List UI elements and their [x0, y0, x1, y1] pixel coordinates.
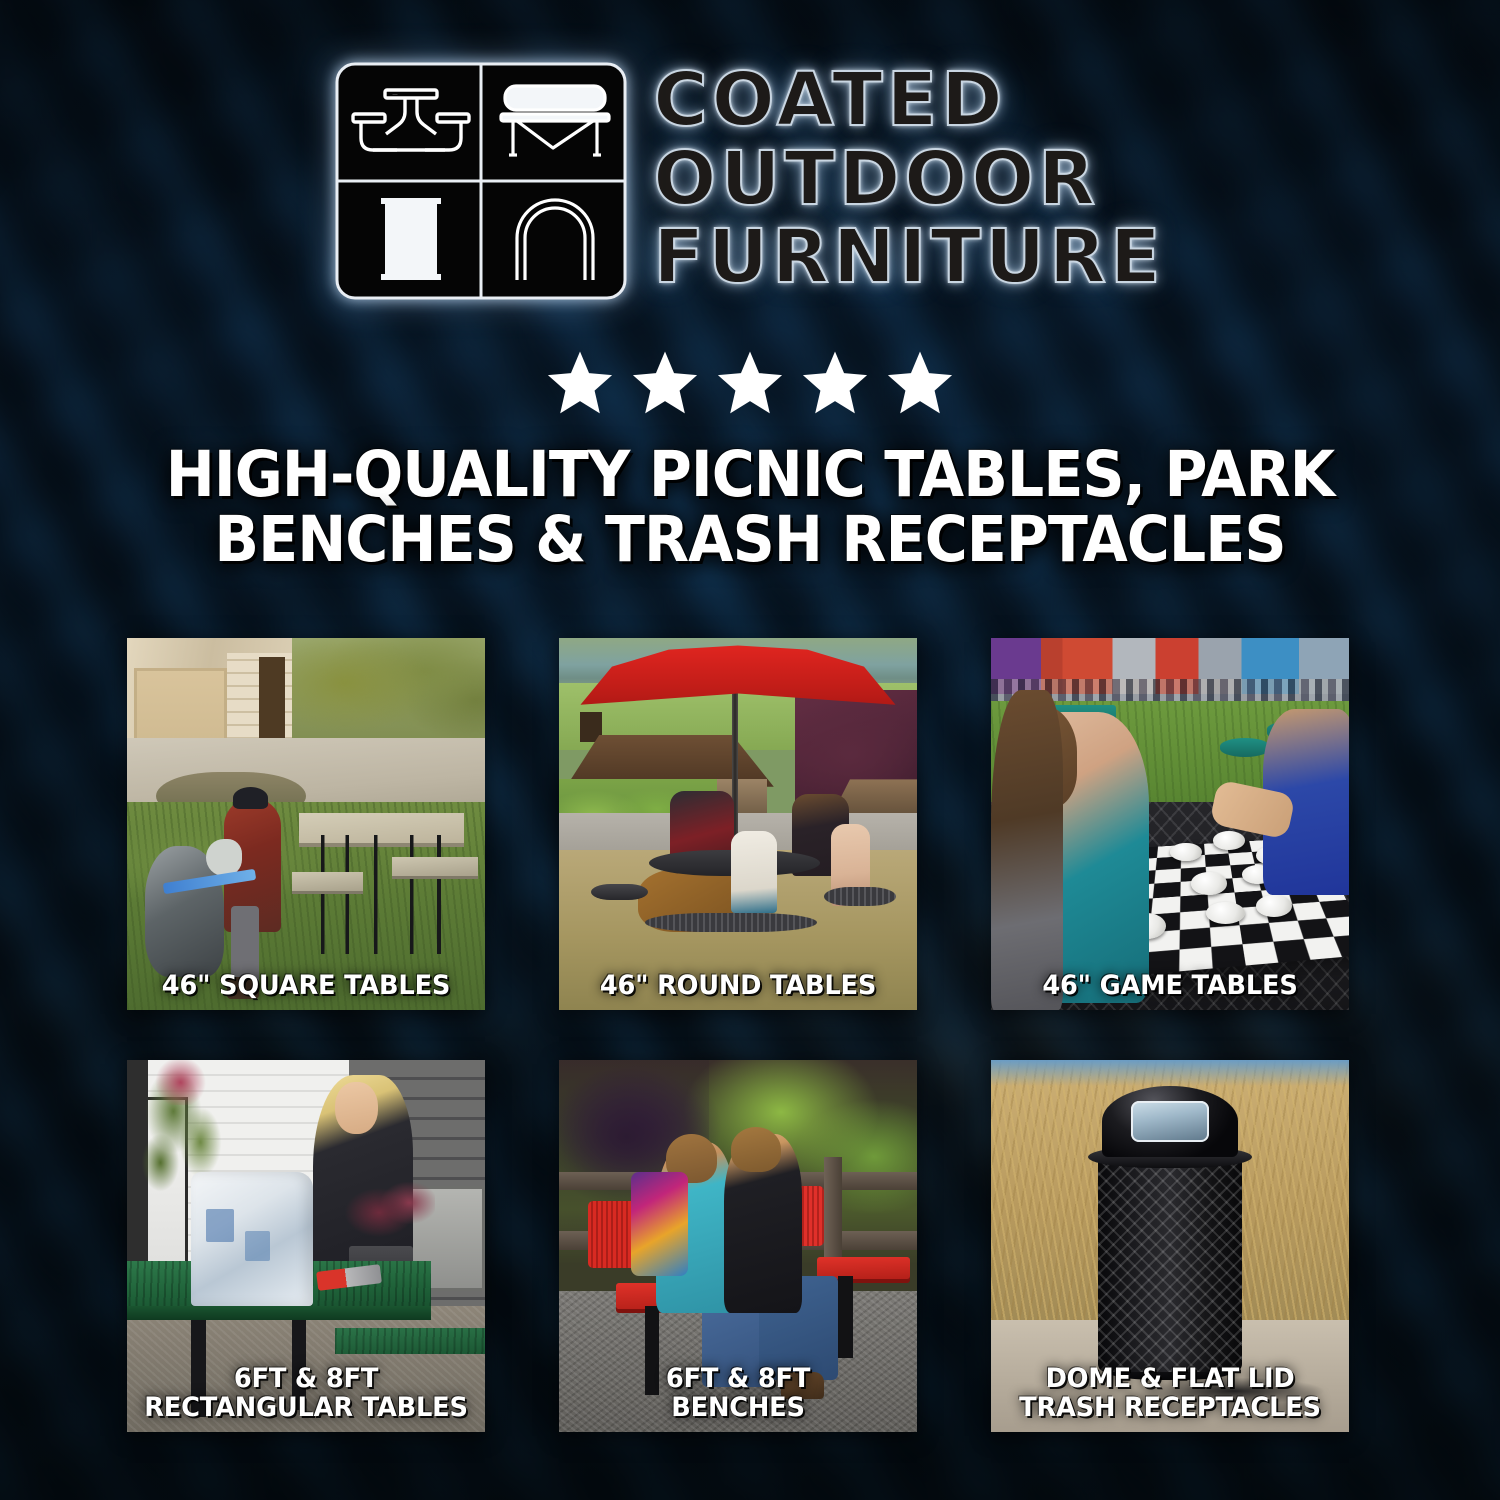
caption-line-1: 6FT & 8FT: [574, 1365, 903, 1393]
star-icon: [884, 348, 956, 418]
logo-wordmark: COATED OUTDOOR FURNITURE: [653, 62, 1164, 294]
product-grid: 46" SQUARE TABLES 46" ROUND TAB: [127, 638, 1373, 1432]
caption-line-1: 46" SQUARE TABLES: [142, 972, 471, 1000]
product-caption: 46" GAME TABLES: [1006, 972, 1335, 1000]
product-photo-round-tables: [559, 638, 917, 1010]
logo-mark-icon-grid: [335, 62, 627, 300]
headline-line-1: HIGH-QUALITY PICNIC TABLES, PARK: [108, 443, 1391, 508]
logo-line-2: OUTDOOR: [653, 143, 1099, 216]
brand-logo[interactable]: COATED OUTDOOR FURNITURE: [0, 62, 1500, 300]
product-caption: 46" SQUARE TABLES: [142, 972, 471, 1000]
star-icon: [629, 348, 701, 418]
headline-line-2: BENCHES & TRASH RECEPTACLES: [108, 508, 1391, 573]
caption-line-2: RECTANGULAR TABLES: [142, 1394, 471, 1422]
product-tile-trash-receptacles[interactable]: DOME & FLAT LID TRASH RECEPTACLES: [991, 1060, 1349, 1432]
star-icon: [799, 348, 871, 418]
product-tile-rectangular-tables[interactable]: 6FT & 8FT RECTANGULAR TABLES: [127, 1060, 485, 1432]
caption-line-1: 46" ROUND TABLES: [574, 972, 903, 1000]
product-caption: 6FT & 8FT BENCHES: [574, 1365, 903, 1422]
logo-line-1: COATED: [653, 64, 1006, 137]
star-icon: [544, 348, 616, 418]
product-tile-square-tables[interactable]: 46" SQUARE TABLES: [127, 638, 485, 1010]
product-tile-round-tables[interactable]: 46" ROUND TABLES: [559, 638, 917, 1010]
promo-banner: COATED OUTDOOR FURNITURE HIGH-QUALITY PI…: [0, 0, 1500, 1500]
product-caption: DOME & FLAT LID TRASH RECEPTACLES: [1006, 1365, 1335, 1422]
product-photo-game-tables: [991, 638, 1349, 1010]
trash-receptacle-icon: [381, 198, 441, 280]
caption-line-2: BENCHES: [574, 1394, 903, 1422]
product-caption: 46" ROUND TABLES: [574, 972, 903, 1000]
product-photo-square-tables: [127, 638, 485, 1010]
product-tile-game-tables[interactable]: 46" GAME TABLES: [991, 638, 1349, 1010]
product-caption: 6FT & 8FT RECTANGULAR TABLES: [142, 1365, 471, 1422]
star-icon: [714, 348, 786, 418]
logo-line-3: FURNITURE: [653, 221, 1164, 294]
caption-line-1: DOME & FLAT LID: [1006, 1365, 1335, 1393]
caption-line-1: 6FT & 8FT: [142, 1365, 471, 1393]
page-title: HIGH-QUALITY PICNIC TABLES, PARK BENCHES…: [108, 443, 1391, 573]
caption-line-2: TRASH RECEPTACLES: [1006, 1394, 1335, 1422]
star-rating: [0, 348, 1500, 418]
caption-line-1: 46" GAME TABLES: [1006, 972, 1335, 1000]
product-tile-benches[interactable]: 6FT & 8FT BENCHES: [559, 1060, 917, 1432]
